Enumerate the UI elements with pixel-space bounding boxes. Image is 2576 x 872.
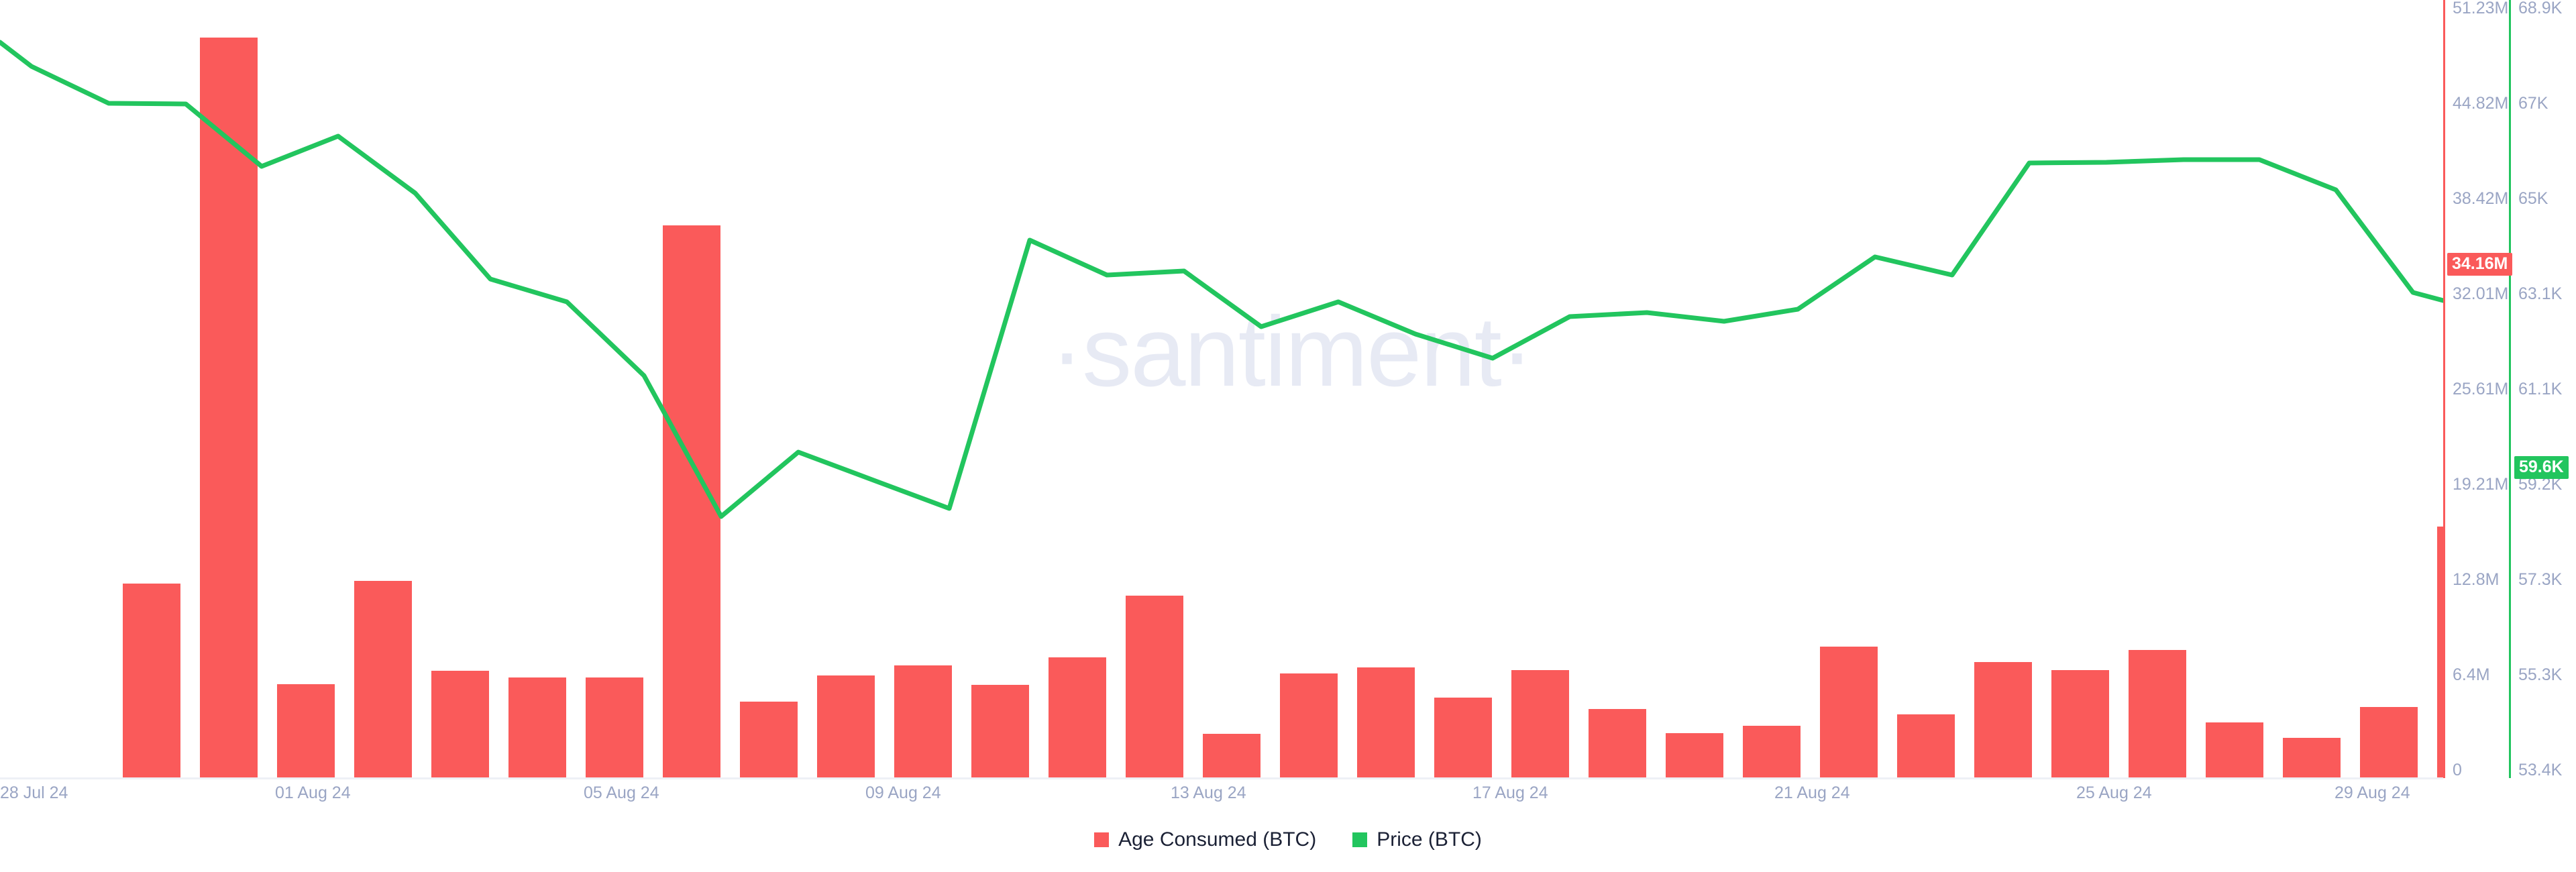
bar[interactable] (971, 685, 1029, 777)
price-tick-label: 57.3K (2518, 571, 2562, 588)
x-axis-tick-label: 13 Aug 24 (1171, 783, 1246, 803)
age-consumed-tick-label: 19.21M (2453, 476, 2508, 493)
bar[interactable] (817, 675, 875, 777)
bar[interactable] (1049, 657, 1106, 777)
bar[interactable] (1511, 670, 1569, 777)
bar[interactable] (1434, 698, 1492, 777)
x-axis-tick-label: 25 Aug 24 (2076, 783, 2152, 803)
bar[interactable] (1820, 647, 1878, 777)
price-tick-label: 59.2K (2518, 476, 2562, 493)
x-axis-tick-label: 01 Aug 24 (275, 783, 351, 803)
bar[interactable] (1974, 662, 2032, 777)
price-line (0, 42, 2443, 516)
age-consumed-tick-label: 12.8M (2453, 571, 2499, 588)
age-consumed-tick-label: 6.4M (2453, 667, 2490, 684)
age-consumed-tick-label: 25.61M (2453, 381, 2508, 398)
price-tick-label: 61.1K (2518, 381, 2562, 398)
bar[interactable] (1743, 726, 1801, 777)
legend-label: Price (BTC) (1377, 828, 1482, 851)
bar[interactable] (200, 38, 258, 777)
bar[interactable] (123, 584, 180, 777)
price-tick-label: 67K (2518, 95, 2548, 112)
price-current-value-badge: 59.6K (2514, 456, 2569, 479)
bar[interactable] (354, 581, 412, 777)
chart-legend: Age Consumed (BTC)Price (BTC) (0, 828, 2576, 851)
price-axis-line (2509, 0, 2511, 778)
x-axis-tick-label: 09 Aug 24 (865, 783, 941, 803)
bar[interactable] (508, 677, 566, 777)
legend-swatch-icon (1094, 832, 1109, 847)
bar[interactable] (277, 684, 335, 777)
bar[interactable] (1897, 714, 1955, 777)
bar[interactable] (586, 677, 643, 777)
age-consumed-current-value-badge: 34.16M (2447, 253, 2512, 276)
bar[interactable] (1589, 709, 1646, 777)
bar[interactable] (1203, 734, 1260, 777)
plot-canvas (0, 0, 2443, 778)
bar[interactable] (2283, 738, 2341, 777)
price-tick-label: 53.4K (2518, 762, 2562, 779)
bar[interactable] (1357, 667, 1415, 777)
legend-item[interactable]: Price (BTC) (1352, 828, 1482, 851)
bar[interactable] (894, 665, 952, 777)
price-tick-label: 65K (2518, 190, 2548, 207)
price-tick-label: 63.1K (2518, 286, 2562, 303)
age-consumed-tick-label: 38.42M (2453, 190, 2508, 207)
x-axis-tick-label: 28 Jul 24 (0, 783, 68, 803)
legend-item[interactable]: Age Consumed (BTC) (1094, 828, 1316, 851)
age-consumed-tick-label: 32.01M (2453, 286, 2508, 303)
price-tick-label: 68.9K (2518, 0, 2562, 17)
legend-swatch-icon (1352, 832, 1367, 847)
x-axis-tick-label: 17 Aug 24 (1472, 783, 1548, 803)
age-consumed-tick-label: 44.82M (2453, 95, 2508, 112)
bar[interactable] (2129, 650, 2186, 777)
legend-label: Age Consumed (BTC) (1118, 828, 1316, 851)
bar[interactable] (2051, 670, 2109, 777)
bar[interactable] (2360, 707, 2418, 777)
bar[interactable] (431, 671, 489, 777)
price-tick-label: 55.3K (2518, 667, 2562, 684)
bar[interactable] (1666, 733, 1723, 777)
bar[interactable] (2437, 527, 2443, 777)
bar[interactable] (1280, 673, 1338, 777)
bar[interactable] (1126, 596, 1183, 777)
age-consumed-tick-label: 51.23M (2453, 0, 2508, 17)
x-axis-line (0, 777, 2443, 779)
bars-group (123, 38, 2443, 777)
x-axis-tick-label: 21 Aug 24 (1774, 783, 1850, 803)
age-consumed-axis-line (2443, 0, 2445, 778)
x-axis-tick-label: 05 Aug 24 (584, 783, 659, 803)
bar[interactable] (2206, 722, 2263, 777)
chart-root: ·santiment· 28 Jul 2401 Aug 2405 Aug 240… (0, 0, 2576, 872)
x-axis-tick-label: 29 Aug 24 (2334, 783, 2410, 803)
bar[interactable] (740, 702, 798, 777)
age-consumed-tick-label: 0 (2453, 762, 2462, 779)
plot-area (0, 0, 2443, 778)
